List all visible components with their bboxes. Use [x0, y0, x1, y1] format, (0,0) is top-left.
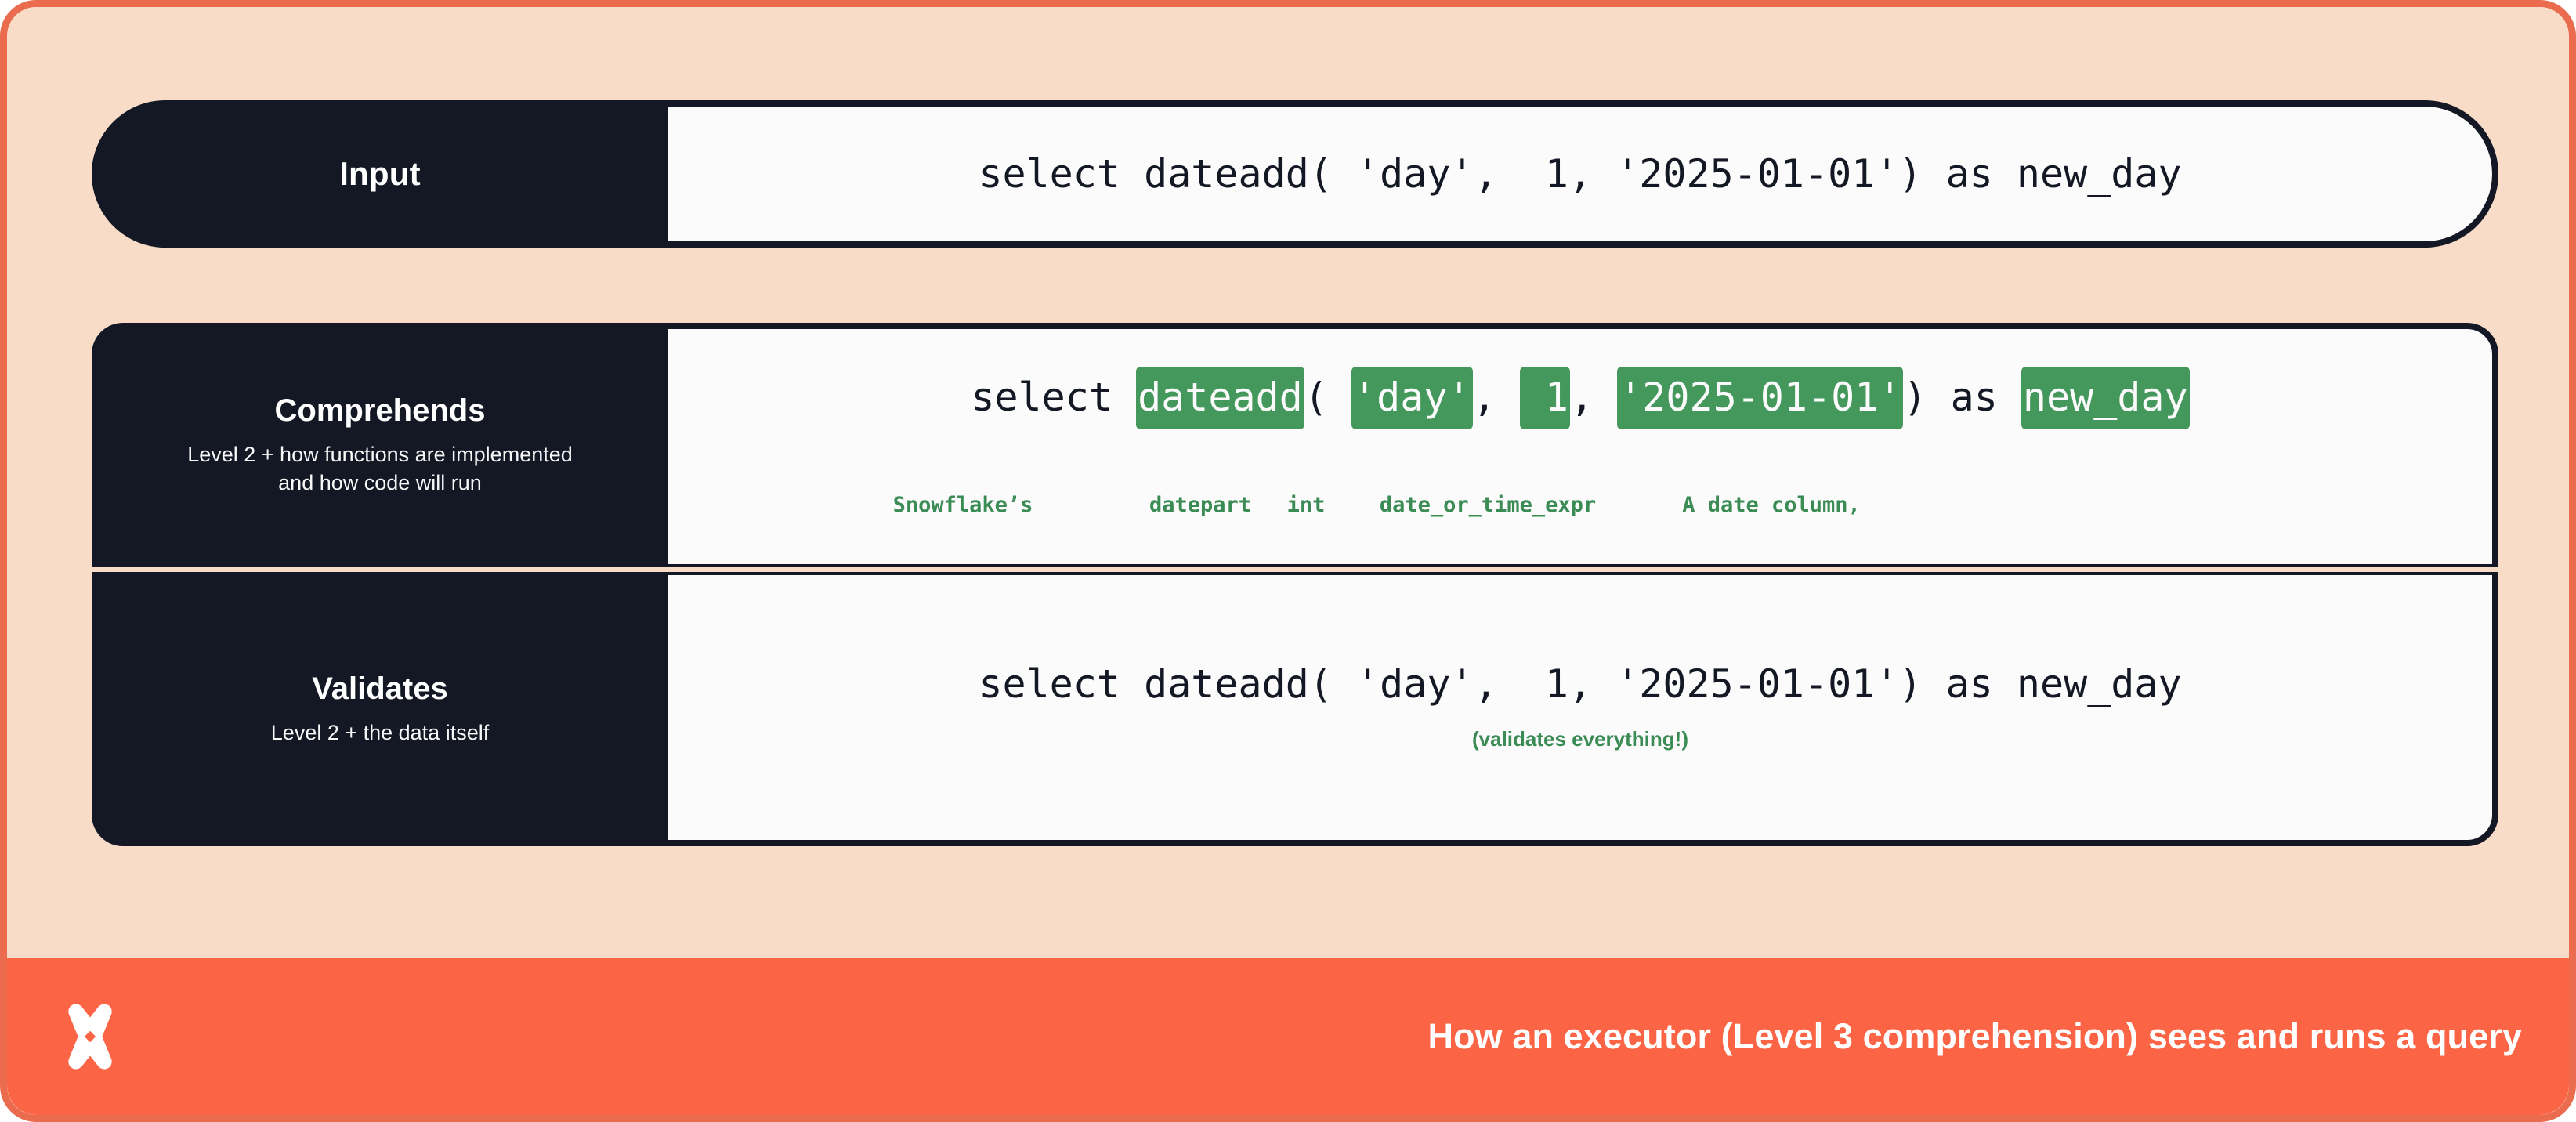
comprehends-subtitle-line1: Level 2 + how functions are implemented [187, 440, 573, 469]
annotation-date-or-time-expr-line1: date_or_time_expr [1380, 493, 1596, 519]
validates-subtitle-line1: Level 2 + the data itself [271, 718, 489, 747]
input-code-line: select dateadd( 'day', 1, '2025-01-01') … [979, 154, 2181, 195]
code-token-open-paren: ( [1304, 375, 1351, 420]
input-row-label-text: Input [339, 155, 421, 193]
validates-code-panel: select dateadd( 'day', 1, '2025-01-01') … [668, 572, 2498, 846]
validates-row: Validates Level 2 + the data itself sele… [92, 572, 2498, 846]
annotation-alias-line1: A date column, [1670, 493, 1873, 519]
comprehends-title: Comprehends [275, 393, 486, 428]
code-token-dateadd: dateadd [1136, 367, 1304, 429]
code-annotations: Snowflake’s dateadd datepart int date_or… [668, 442, 2492, 517]
poster-frame: Input select dateadd( 'day', 1, '2025-01… [0, 0, 2576, 1122]
annotation-date-or-time-expr: date_or_time_expr [1380, 442, 1596, 571]
code-token-select: select [971, 375, 1136, 420]
input-row: Input select dateadd( 'day', 1, '2025-01… [92, 100, 2498, 248]
annotation-dateadd-line1: Snowflake’s [874, 493, 1052, 519]
footer-bar: How an executor (Level 3 comprehension) … [7, 958, 2569, 1115]
comprehends-subtitle: Level 2 + how functions are implemented … [187, 440, 573, 497]
validates-code-line: select dateadd( 'day', 1, '2025-01-01') … [979, 664, 2181, 705]
code-token-comma-1: , [1473, 375, 1520, 420]
footer-caption: How an executor (Level 3 comprehension) … [1427, 1016, 2522, 1057]
code-token-date-literal: '2025-01-01' [1617, 367, 1903, 429]
diagram-stage: Input select dateadd( 'day', 1, '2025-01… [7, 7, 2569, 972]
code-token-alias: new_day [2021, 367, 2190, 429]
validates-row-label: Validates Level 2 + the data itself [92, 572, 668, 846]
annotation-int-line1: int [1217, 493, 1395, 519]
validates-note: (validates everything!) [1472, 727, 1688, 751]
code-token-int: 1 [1520, 367, 1570, 429]
comprehends-code-line: select dateadd( 'day', 1, '2025-01-01') … [971, 377, 2189, 418]
four-point-star-logo-icon [52, 999, 128, 1074]
comprehends-code-panel: select dateadd( 'day', 1, '2025-01-01') … [668, 323, 2498, 567]
input-code-panel: select dateadd( 'day', 1, '2025-01-01') … [637, 100, 2498, 248]
input-row-label: Input [92, 100, 668, 248]
comprehends-subtitle-line2: and how code will run [187, 469, 573, 497]
code-token-datepart: 'day' [1351, 367, 1473, 429]
code-token-comma-2: , [1570, 375, 1617, 420]
validates-subtitle: Level 2 + the data itself [271, 718, 489, 747]
code-token-close-as: ) as [1903, 375, 2021, 420]
validates-title: Validates [312, 671, 447, 706]
levels-matrix: Comprehends Level 2 + how functions are … [92, 323, 2498, 846]
comprehends-row-label: Comprehends Level 2 + how functions are … [92, 323, 668, 567]
comprehends-row: Comprehends Level 2 + how functions are … [92, 323, 2498, 567]
annotation-int: int [1217, 442, 1395, 571]
